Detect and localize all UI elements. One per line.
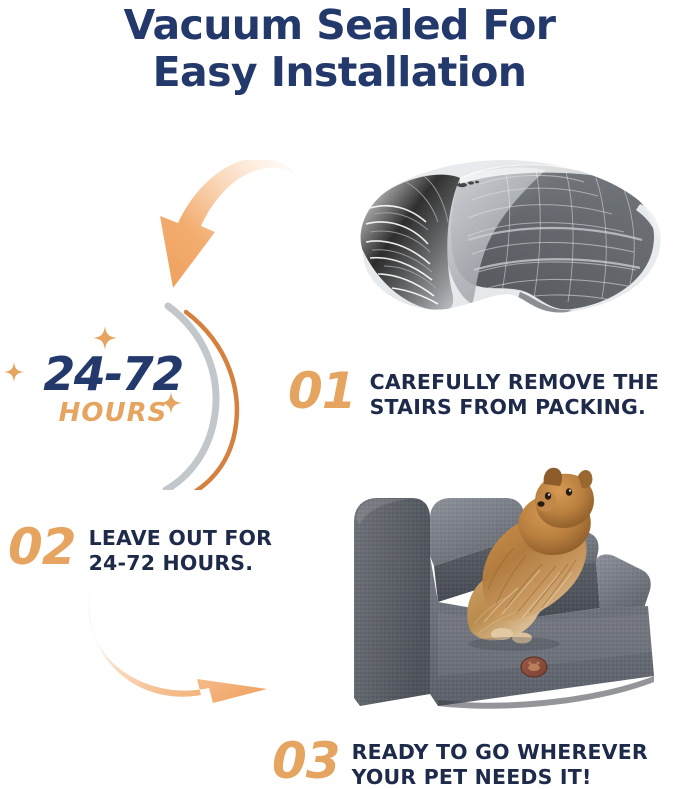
badge-duration-unit: HOURS bbox=[18, 398, 208, 428]
page-title: Vacuum Sealed For Easy Installation bbox=[0, 2, 679, 96]
headline-line-2: Easy Installation bbox=[0, 49, 679, 96]
step-number-03: 03 bbox=[272, 736, 340, 786]
step-description-02: LEAVE OUT FOR 24-72 HOURS. bbox=[89, 522, 273, 576]
step-description-03: READY TO GO WHEREVER YOUR PET NEEDS IT! bbox=[352, 736, 648, 789]
step-description-01: CAREFULLY REMOVE THE STAIRS FROM PACKING… bbox=[370, 366, 659, 420]
step-description-02-line-1: LEAVE OUT FOR bbox=[89, 526, 273, 551]
step-item-02: 02 LEAVE OUT FOR 24-72 HOURS. bbox=[8, 522, 272, 576]
step-item-01: 01 CAREFULLY REMOVE THE STAIRS FROM PACK… bbox=[288, 366, 659, 420]
pet-stairs-with-dog-photo bbox=[338, 462, 674, 714]
infographic-canvas: Vacuum Sealed For Easy Installation bbox=[0, 0, 679, 789]
curved-arrow-down-left-icon bbox=[155, 160, 300, 295]
curved-arrow-down-right-icon bbox=[85, 575, 275, 705]
headline-line-1: Vacuum Sealed For bbox=[0, 2, 679, 49]
step-description-03-line-1: READY TO GO WHEREVER bbox=[352, 740, 648, 765]
badge-duration-value: 24-72 bbox=[18, 350, 208, 398]
duration-badge: 24-72 HOURS bbox=[0, 300, 270, 490]
step-description-02-line-2: 24-72 HOURS. bbox=[89, 551, 273, 576]
step-description-01-line-1: CAREFULLY REMOVE THE bbox=[370, 370, 659, 395]
vacuum-sealed-package-photo bbox=[340, 152, 672, 342]
step-description-03-line-2: YOUR PET NEEDS IT! bbox=[352, 765, 648, 789]
step-number-01: 01 bbox=[288, 366, 356, 416]
step-item-03: 03 READY TO GO WHEREVER YOUR PET NEEDS I… bbox=[272, 736, 648, 789]
step-number-02: 02 bbox=[8, 522, 76, 572]
brand-logo-patch bbox=[521, 657, 547, 677]
badge-text: 24-72 HOURS bbox=[18, 350, 208, 428]
step-description-01-line-2: STAIRS FROM PACKING. bbox=[370, 395, 659, 420]
